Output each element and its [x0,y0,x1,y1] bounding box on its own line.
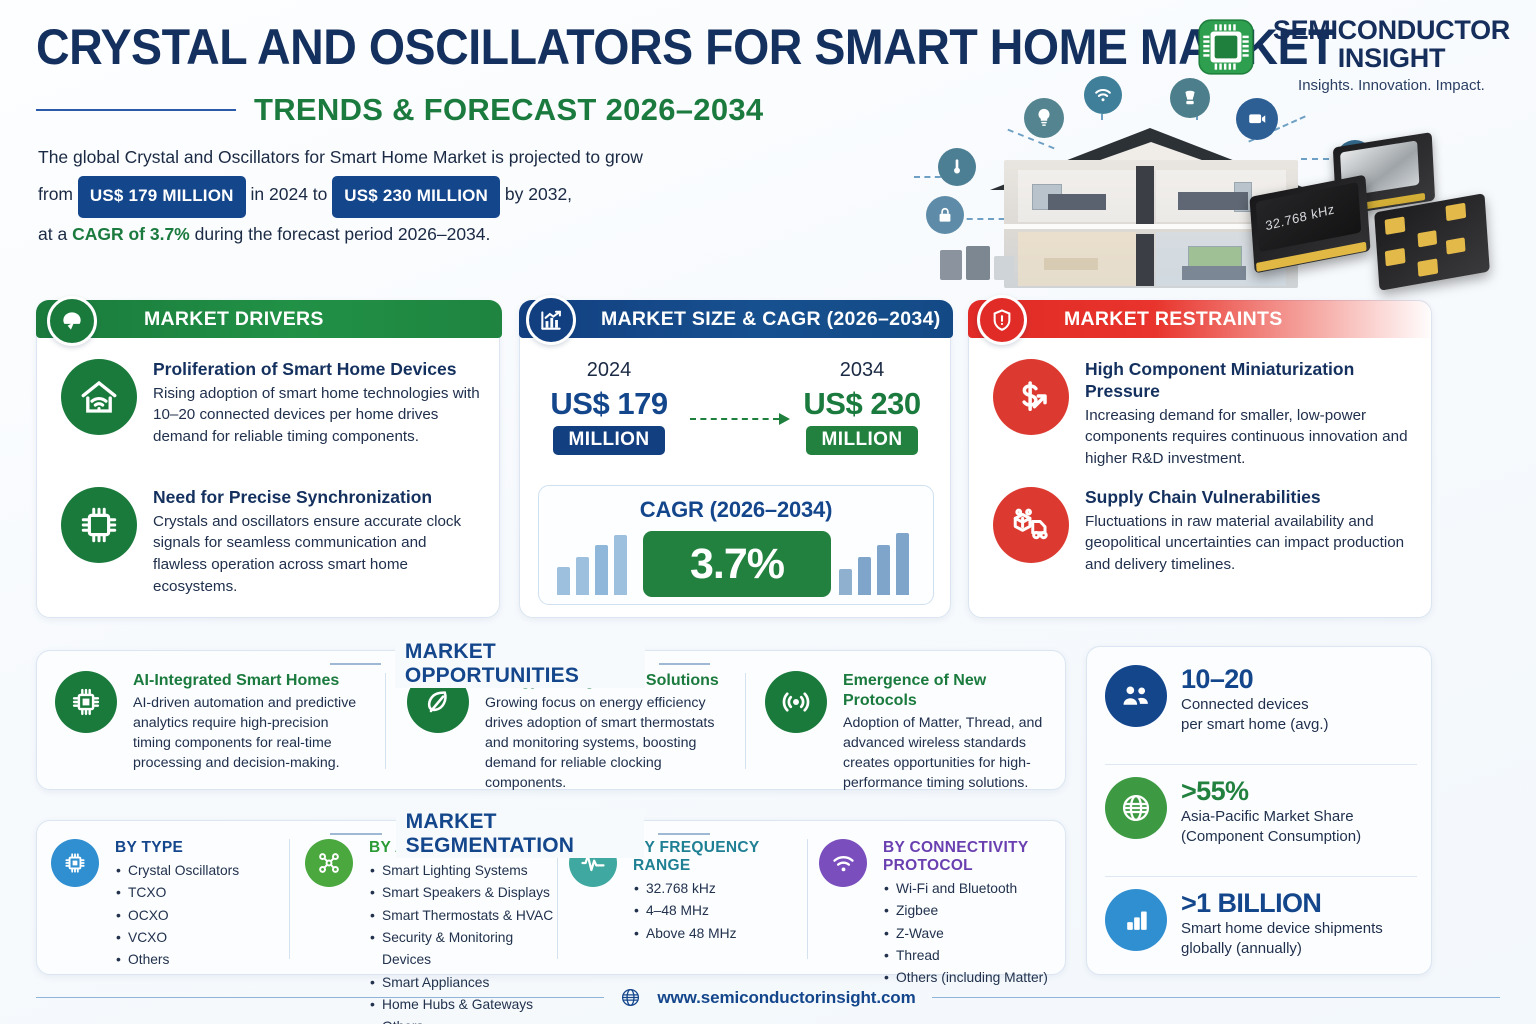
segment-item: 4–48 MHz [633,900,799,922]
lead-at-a: at a [38,224,67,244]
cagr-panel: CAGR (2026–2034) 3.7% [538,485,934,605]
restraint-item: Supply Chain Vulnerabilities Fluctuation… [993,487,1421,576]
furniture [1178,192,1248,210]
segment-title: BY CONNECTIVITY PROTOCOL [883,839,1059,875]
start-year: 2024 [544,359,674,382]
lead-paragraph: The global Crystal and Oscillators for S… [38,140,798,252]
cagr-bars-right [839,533,915,595]
hero-illustration: 32.768 kHz [916,78,1536,308]
end-year: 2034 [792,359,932,382]
segment-title: BY TYPE [115,839,239,857]
opportunity-body: Adoption of Matter, Thread, and advanced… [843,714,1055,794]
opportunities-title: MARKET OPPORTUNITIES [395,640,645,688]
stat-line-2: per smart home (avg.) [1181,715,1329,735]
opportunity-body: Growing focus on energy efficiency drive… [485,694,727,793]
segment-item: Smart Thermostats & HVAC [369,905,555,927]
restraint-body: Increasing demand for smaller, low-power… [1085,405,1421,470]
supply-truck-icon [993,487,1069,563]
key-stats-card: 10–20 Connected devices per smart home (… [1086,646,1432,975]
segment-item: Crystal Oscillators [115,860,239,882]
header: CRYSTAL AND OSCILLATORS FOR SMART HOME M… [0,0,1536,288]
segment-item: Others [369,1016,555,1024]
market-size-card: MARKET SIZE & CAGR (2026–2034) 2024 US$ … [519,300,951,618]
opportunity-item: Energy Management Solutions Growing focu… [407,671,727,793]
segment-item: Wi-Fi and Bluetooth [883,878,1059,900]
divider [289,839,290,959]
segment-item: Thread [883,945,1059,967]
globe-icon [620,987,641,1008]
lead-mid: in 2024 to [251,184,328,204]
segment-item: OCXO [115,905,239,927]
segment-group: BY CONNECTIVITY PROTOCOL Wi-Fi and Bluet… [819,839,1059,990]
crystal-component-pads [1374,193,1490,291]
footer-rule-left [36,997,604,999]
page-title: CRYSTAL AND OSCILLATORS FOR SMART HOME M… [36,22,1336,72]
driver-item: Proliferation of Smart Home Devices Risi… [61,359,481,448]
driver-body: Rising adoption of smart home technologi… [153,383,481,448]
wifi-icon [1084,76,1122,114]
value-pill-2024: US$ 179 MILLION [78,176,246,217]
segment-list: Crystal Oscillators TCXO OCXO VCXO Other… [115,860,239,972]
driver-title: Proliferation of Smart Home Devices [153,359,481,381]
footer-url[interactable]: www.semiconductorinsight.com [657,988,915,1008]
divider [745,673,746,769]
driver-item: Need for Precise Synchronization Crystal… [61,487,481,597]
end-unit: MILLION [806,426,919,455]
wifi-icon [819,839,867,887]
device-unit [994,256,1014,280]
chip-logo-icon [1193,14,1259,80]
ai-chip-icon [55,671,117,733]
segment-item: Zigbee [883,900,1059,922]
market-size-title: MARKET SIZE & CAGR (2026–2034) [601,308,941,331]
page-subtitle: TRENDS & FORECAST 2026–2034 [254,92,763,128]
dollar-rising-icon [993,359,1069,435]
segment-item: 32.768 kHz [633,878,799,900]
restraint-item: High Component Miniaturization Pressure … [993,359,1421,469]
furniture [1048,194,1106,210]
users-group-icon [1105,665,1167,727]
divider [1105,876,1417,877]
opportunity-body: AI-driven automation and predictive anal… [133,694,365,774]
segment-group: BY TYPE Crystal Oscillators TCXO OCXO VC… [51,839,271,972]
brand-line-2: INSIGHT [1273,44,1510,72]
lead-post: by 2032, [505,184,572,204]
segment-item: Smart Lighting Systems [369,860,555,882]
opportunity-title: Emergence of New Protocols [843,671,1055,711]
segment-item: TCXO [115,882,239,904]
lead-line-2: from US$ 179 MILLION in 2024 to US$ 230 … [38,175,798,216]
segment-item: Z-Wave [883,923,1059,945]
globe-grid-icon [1105,777,1167,839]
chip-square-icon [51,839,99,887]
cagr-accent: CAGR of 3.7% [72,224,190,244]
door [1136,234,1154,286]
signal-broadcast-icon [765,671,827,733]
footer: www.semiconductorinsight.com [36,987,1500,1008]
market-size-start: 2024 US$ 179 MILLION [544,359,674,455]
market-restraints-header: MARKET RESTRAINTS [968,300,1434,338]
segment-item: Above 48 MHz [633,923,799,945]
start-value: US$ 179 [544,386,674,422]
stat-line-1: Asia-Pacific Market Share [1181,807,1361,827]
stat-item: 10–20 Connected devices per smart home (… [1105,665,1417,735]
lead-period: during the forecast period 2026–2034. [195,224,491,244]
restraint-body: Fluctuations in raw material availabilit… [1085,511,1421,576]
speaker-icon [1170,78,1210,118]
device-unit [966,246,990,280]
lightbulb-icon [1024,98,1064,138]
thermostat-icon [938,148,976,186]
lead-line-1: The global Crystal and Oscillators for S… [38,140,798,175]
segment-list: Wi-Fi and Bluetooth Zigbee Z-Wave Thread… [883,878,1059,990]
stat-line-1: Smart home device shipments [1181,919,1383,939]
stat-line-2: globally (annually) [1181,939,1383,959]
driver-body: Crystals and oscillators ensure accurate… [153,511,481,597]
lead-line-3: at a CAGR of 3.7% during the forecast pe… [38,217,798,252]
cagr-value: 3.7% [643,531,831,597]
cagr-title: CAGR (2026–2034) [539,497,933,523]
start-unit: MILLION [553,426,666,455]
stat-line-2: (Component Consumption) [1181,827,1361,847]
door [1136,166,1154,224]
stat-value: >55% [1181,777,1361,805]
footer-rule-right [932,997,1500,999]
divider [1105,764,1417,765]
driver-title: Need for Precise Synchronization [153,487,481,509]
lead-from: from [38,184,73,204]
shield-alert-icon [977,295,1027,345]
segment-list: 32.768 kHz 4–48 MHz Above 48 MHz [633,878,799,945]
market-segmentation-label: MARKET SEGMENTATION [330,810,710,858]
bar-chart-growth-icon [526,295,576,345]
end-value: US$ 230 [792,386,932,422]
divider [807,839,808,959]
restraint-title: Supply Chain Vulnerabilities [1085,487,1421,509]
stat-value: 10–20 [1181,665,1329,693]
market-size-header: MARKET SIZE & CAGR (2026–2034) [519,300,953,338]
market-drivers-title: MARKET DRIVERS [144,308,324,331]
market-size-end: 2034 US$ 230 MILLION [792,359,932,455]
growth-arrow-icon [690,413,790,425]
brand-line-1: SEMICONDUCTOR [1273,16,1510,44]
segmentation-title: MARKET SEGMENTATION [396,810,645,858]
segment-item: Smart Speakers & Displays [369,882,555,904]
drivers-gauge-icon [47,296,97,346]
market-restraints-card: MARKET RESTRAINTS High Component Miniatu… [968,300,1432,618]
furniture [1182,266,1246,280]
bar-chart-icon [1105,889,1167,951]
stat-item: >55% Asia-Pacific Market Share (Componen… [1105,777,1417,847]
cagr-bars-left [557,533,633,595]
market-restraints-title: MARKET RESTRAINTS [1064,308,1283,331]
smart-home-wifi-icon [61,359,137,435]
segment-item: VCXO [115,927,239,949]
lock-icon [926,196,964,234]
camera-icon [1236,98,1278,140]
opportunity-item: AI-Integrated Smart Homes AI-driven auto… [55,671,365,774]
market-drivers-header: MARKET DRIVERS [36,300,502,338]
opportunity-item: Emergence of New Protocols Adoption of M… [765,671,1055,794]
device-unit [940,250,962,280]
market-opportunities-label: MARKET OPPORTUNITIES [330,640,710,688]
furniture [1044,258,1098,270]
segment-item: Others [115,949,239,971]
restraint-title: High Component Miniaturization Pressure [1085,359,1421,403]
stat-line-1: Connected devices [1181,695,1329,715]
subtitle-rule [36,109,236,111]
value-pill-2032: US$ 230 MILLION [332,176,500,217]
stat-item: >1 BILLION Smart home device shipments g… [1105,889,1417,959]
microchip-icon [61,487,137,563]
infographic-page: CRYSTAL AND OSCILLATORS FOR SMART HOME M… [0,0,1536,1024]
segment-item: Security & Monitoring Devices [369,927,555,972]
stat-value: >1 BILLION [1181,889,1383,917]
market-drivers-card: MARKET DRIVERS Proliferation of Smart Ho… [36,300,500,618]
